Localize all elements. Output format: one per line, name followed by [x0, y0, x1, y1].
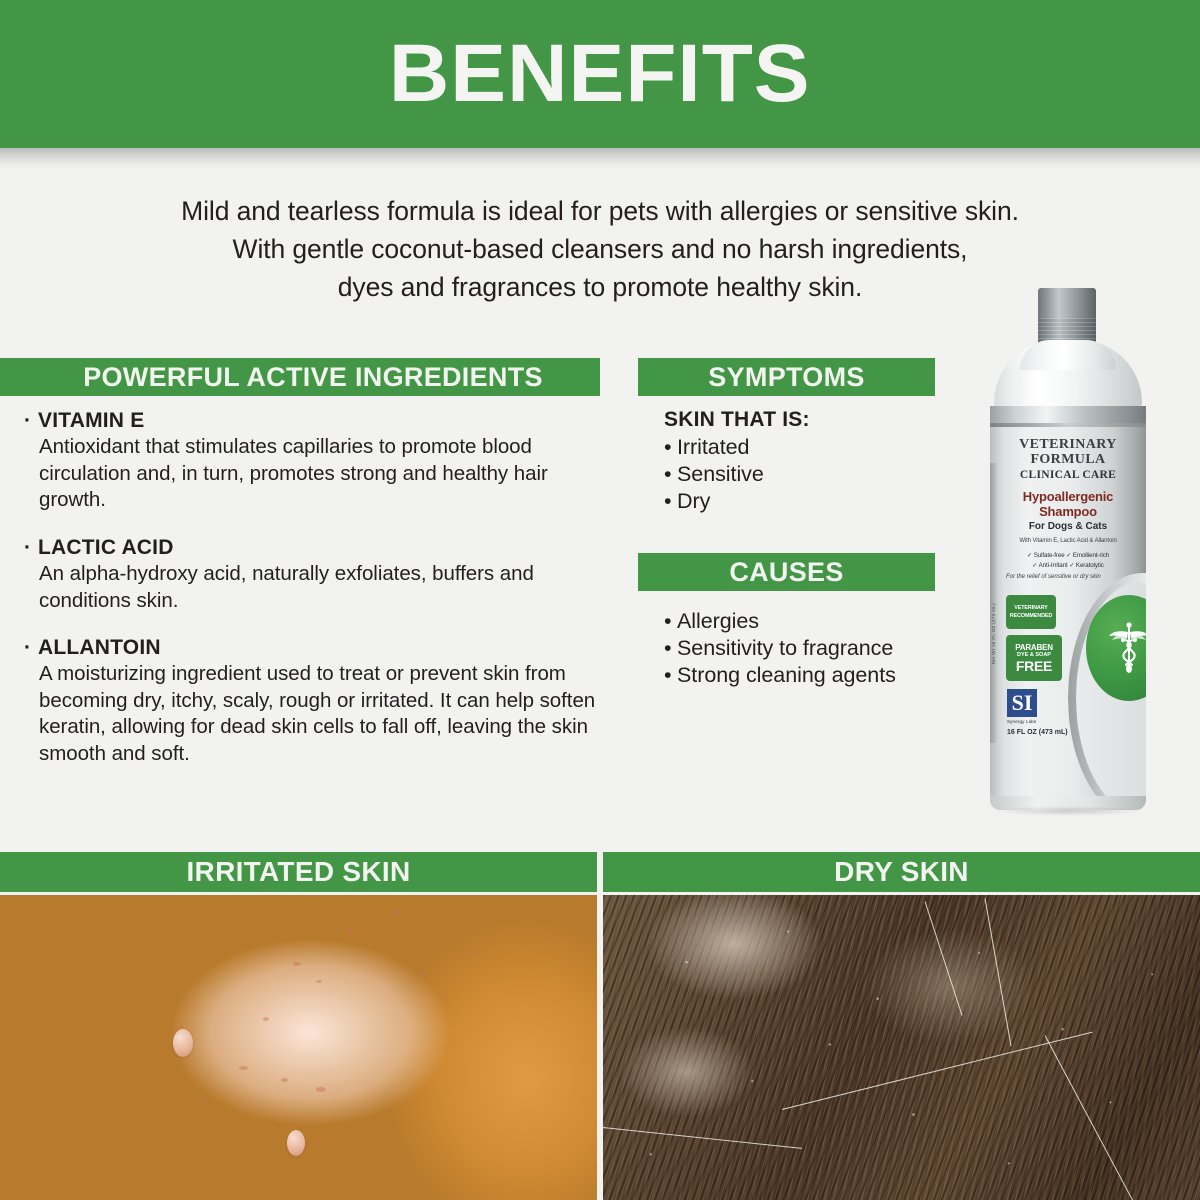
product-volume: 16 FL OZ (473 mL): [1007, 729, 1087, 736]
list-item: •Sensitivity to fragrance: [664, 635, 964, 662]
brand-line-2: FORMULA: [990, 452, 1146, 468]
symptoms-heading-label: SYMPTOMS: [638, 362, 935, 393]
bullet-icon: ·: [24, 635, 38, 661]
brand-line-3: CLINICAL CARE: [990, 469, 1146, 481]
dandruff-flakes: [603, 895, 1200, 1200]
product-actives-line: With Vitamin E, Lactic Acid & Allantoin: [990, 538, 1146, 544]
synergy-labs-name: Synergy Labs: [1007, 719, 1067, 724]
badge-vet-line-1: VETERINARY: [1014, 604, 1048, 612]
paraben-free-badge: PARABEN DYE & SOAP FREE: [1006, 635, 1062, 681]
irritated-skin-caption: IRRITATED SKIN: [0, 856, 597, 888]
list-item: •Dry: [664, 488, 954, 515]
ingredient-item-vitamin-e: ·VITAMIN E Antioxidant that stimulates c…: [24, 408, 604, 514]
bullet-icon: ·: [24, 535, 38, 561]
irritated-skin-photo: [0, 895, 597, 1200]
bottle-label: VETERINARY FORMULA CLINICAL CARE Hypoall…: [990, 423, 1146, 808]
bullet-icon: •: [664, 608, 677, 635]
synergy-labs-logo: SI: [1007, 689, 1037, 717]
product-name-line-1: Hypoallergenic: [990, 489, 1146, 504]
list-item: •Strong cleaning agents: [664, 662, 964, 689]
ingredient-name-text: ALLANTOIN: [38, 636, 161, 659]
ingredient-item-allantoin: ·ALLANTOIN A moisturizing ingredient use…: [24, 635, 604, 767]
skin-bumps: [0, 895, 597, 1200]
list-item-label: Irritated: [677, 435, 749, 459]
intro-line-1: Mild and tearless formula is ideal for p…: [0, 192, 1200, 230]
dry-skin-caption-bar: DRY SKIN: [603, 852, 1200, 892]
list-item-label: Allergies: [677, 609, 759, 633]
ingredient-name: ·ALLANTOIN: [24, 635, 604, 661]
bottle-silver-band: [990, 406, 1146, 423]
page-header: BENEFITS: [0, 0, 1200, 148]
ingredient-item-lactic-acid: ·LACTIC ACID An alpha-hydroxy acid, natu…: [24, 535, 604, 614]
causes-list: •Allergies •Sensitivity to fragrance •St…: [664, 608, 964, 689]
product-claims: ✓ Sulfate-free ✓ Emollient-rich ✓ Anti-I…: [990, 551, 1146, 571]
ingredients-section-header: POWERFUL ACTIVE INGREDIENTS: [0, 358, 600, 396]
list-item: •Sensitive: [664, 461, 954, 488]
badge-free-line-1: PARABEN: [1015, 643, 1053, 652]
ingredient-name: ·LACTIC ACID: [24, 535, 604, 561]
bullet-icon: •: [664, 461, 677, 488]
ingredient-name-text: LACTIC ACID: [38, 536, 174, 559]
list-item: •Irritated: [664, 434, 954, 461]
brand-line-1: VETERINARY: [990, 437, 1146, 453]
ingredient-name: ·VITAMIN E: [24, 408, 604, 434]
bottle-drop-shadow: [994, 806, 1144, 816]
ingredient-description: An alpha-hydroxy acid, naturally exfolia…: [24, 561, 604, 614]
ingredient-description: Antioxidant that stimulates capillaries …: [24, 434, 604, 514]
bullet-icon: •: [664, 488, 677, 515]
list-item: •Allergies: [664, 608, 964, 635]
list-item-label: Dry: [677, 489, 710, 513]
symptoms-section-header: SYMPTOMS: [638, 358, 935, 396]
list-item-label: Sensitive: [677, 462, 764, 486]
claims-line-1: ✓ Sulfate-free ✓ Emollient-rich: [990, 551, 1146, 561]
ingredient-description: A moisturizing ingredient used to treat …: [24, 661, 604, 767]
product-relief-line: For the relief of sensitive or dry skin: [1006, 573, 1106, 582]
bullet-icon: ·: [24, 408, 38, 434]
label-side-code: Net Wt 16 FL OZ (473 mL): [991, 603, 996, 664]
symptoms-subheading: SKIN THAT IS:: [664, 408, 954, 432]
irritated-skin-caption-bar: IRRITATED SKIN: [0, 852, 597, 892]
symptoms-bullet-list: •Irritated •Sensitive •Dry: [664, 434, 954, 515]
list-item-label: Sensitivity to fragrance: [677, 636, 893, 660]
veterinary-recommended-badge: VETERINARY RECOMMENDED: [1006, 595, 1056, 629]
photo-center-gap: [597, 852, 603, 1200]
intro-line-2: With gentle coconut-based cleansers and …: [0, 230, 1200, 268]
label-top-edge: [990, 423, 1146, 427]
dry-skin-caption: DRY SKIN: [603, 856, 1200, 888]
page-title: BENEFITS: [389, 33, 811, 115]
list-item-label: Strong cleaning agents: [677, 663, 896, 687]
badge-free-line-3: FREE: [1016, 659, 1052, 674]
symptoms-list: SKIN THAT IS: •Irritated •Sensitive •Dry: [664, 408, 954, 515]
caduceus-icon: [1108, 620, 1146, 676]
header-shadow-divider: [0, 148, 1200, 170]
claims-line-2: ✓ Anti-Irritant ✓ Keratolytic: [990, 561, 1146, 571]
dry-skin-photo: [603, 895, 1200, 1200]
causes-heading-label: CAUSES: [638, 557, 935, 588]
bullet-icon: •: [664, 434, 677, 461]
product-audience: For Dogs & Cats: [990, 521, 1146, 532]
ingredients-heading-label: POWERFUL ACTIVE INGREDIENTS: [0, 362, 600, 393]
product-name-line-2: Shampoo: [990, 504, 1146, 519]
bullet-icon: •: [664, 635, 677, 662]
bottle-neck: [1020, 340, 1116, 370]
ingredients-list: ·VITAMIN E Antioxidant that stimulates c…: [24, 408, 604, 788]
bullet-icon: •: [664, 662, 677, 689]
ingredient-name-text: VITAMIN E: [38, 409, 144, 432]
causes-bullet-list: •Allergies •Sensitivity to fragrance •St…: [664, 608, 964, 689]
causes-section-header: CAUSES: [638, 553, 935, 591]
badge-vet-line-2: RECOMMENDED: [1010, 612, 1052, 620]
product-bottle-image: VETERINARY FORMULA CLINICAL CARE Hypoall…: [960, 288, 1180, 813]
